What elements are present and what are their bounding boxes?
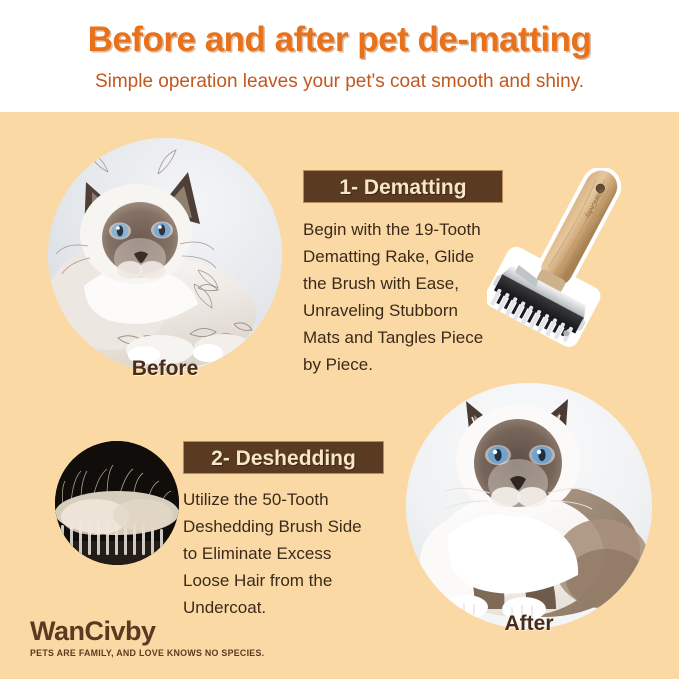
- step-1-body: Begin with the 19-Tooth Dematting Rake, …: [303, 216, 518, 378]
- page-title: Before and after pet de-matting: [0, 20, 679, 60]
- step-1-banner: 1- Dematting: [303, 170, 503, 203]
- after-label: After: [406, 612, 652, 636]
- infographic-page: Before and after pet de-matting Simple o…: [0, 0, 679, 679]
- brand-logo: WanCivby PETS ARE FAMILY, AND LOVE KNOWS…: [30, 616, 330, 659]
- deshedding-photo: [55, 441, 179, 565]
- header-banner: Before and after pet de-matting Simple o…: [0, 0, 679, 112]
- step-2-body: Utilize the 50-Tooth Deshedding Brush Si…: [183, 486, 388, 621]
- deshedding-fur-illustration: [55, 441, 179, 565]
- page-subtitle: Simple operation leaves your pet's coat …: [0, 71, 679, 93]
- dematting-rake-image: WanCivby: [487, 168, 647, 368]
- before-cat-illustration: [48, 138, 282, 372]
- brand-tagline: PETS ARE FAMILY, AND LOVE KNOWS NO SPECI…: [30, 648, 309, 659]
- after-cat-illustration: [406, 383, 652, 629]
- before-label: Before: [48, 357, 282, 381]
- before-photo: [48, 138, 282, 372]
- step-2-banner: 2- Deshedding: [183, 441, 384, 474]
- brand-name: WanCivby: [30, 616, 330, 646]
- after-photo: [406, 383, 652, 629]
- dematting-rake-illustration: WanCivby: [487, 168, 647, 368]
